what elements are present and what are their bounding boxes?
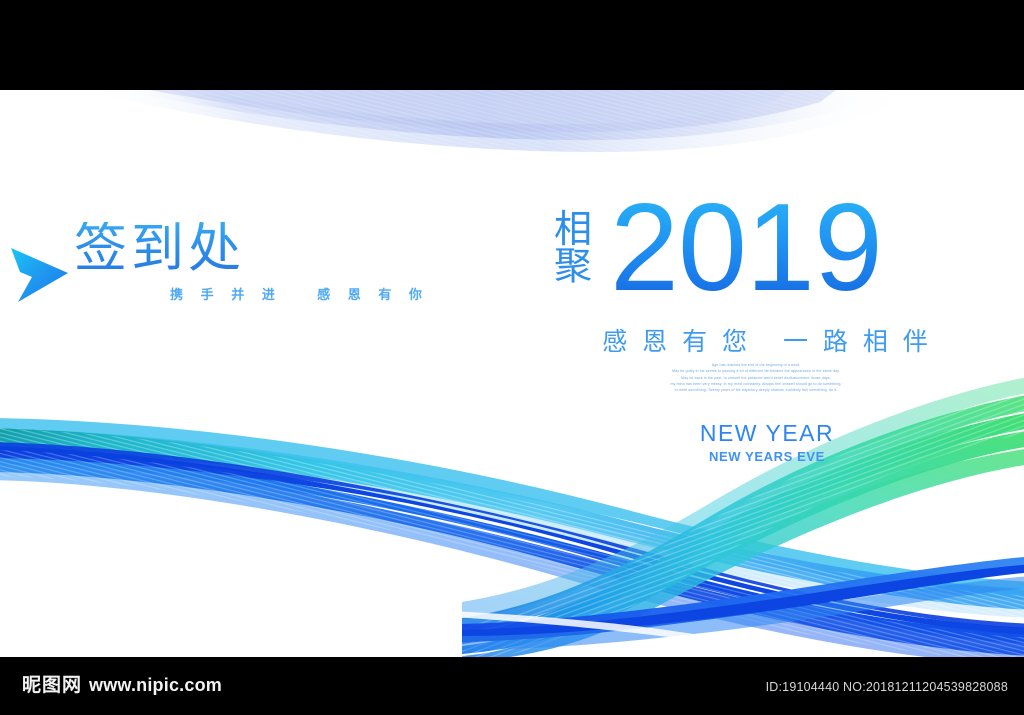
letterbox-top — [0, 0, 1024, 90]
blurb-line: or write something. Twenty years of life… — [626, 387, 886, 393]
arrow-right-icon — [8, 246, 70, 304]
poster-canvas: 签到处 携 手 并 进 感 恩 有 你 相 聚 2019 感 恩 有 您 一 路… — [0, 90, 1024, 657]
watermark-brand-cn: 昵图网 — [22, 676, 82, 695]
vertical-word-xiangju: 相 聚 — [554, 212, 592, 286]
watermark-url[interactable]: www.nipic.com — [89, 676, 222, 694]
vertical-char-1: 相 — [554, 212, 592, 249]
left-headline-block: 签到处 携 手 并 进 感 恩 有 你 — [0, 218, 420, 338]
new-year-subheading: NEW YEARS EVE — [602, 450, 932, 463]
vertical-char-2: 聚 — [554, 249, 592, 286]
page-title: 签到处 — [74, 222, 245, 275]
new-year-heading: NEW YEAR — [602, 422, 932, 445]
tagline: 感 恩 有 您 一 路 相 伴 — [602, 322, 932, 358]
poster-stage: 签到处 携 手 并 进 感 恩 有 你 相 聚 2019 感 恩 有 您 一 路… — [0, 0, 1024, 715]
year-row: 相 聚 2019 — [548, 200, 968, 318]
year-number: 2019 — [610, 186, 882, 310]
subtitle-part-1: 携 手 并 进 — [170, 287, 282, 302]
watermark: 昵图网 www.nipic.com — [22, 676, 222, 695]
asset-id-code: ID:19104440 NO:20181211204539828088 — [766, 680, 1008, 694]
right-headline-block: 相 聚 2019 感 恩 有 您 一 路 相 伴 Age has reached… — [548, 200, 968, 318]
subtitle-part-2: 感 恩 有 你 — [317, 287, 429, 302]
tagline-part-2: 一 路 相 伴 — [783, 328, 932, 356]
tagline-part-1: 感 恩 有 您 — [602, 328, 751, 356]
top-wave-group — [78, 90, 930, 152]
blurb-paragraph: Age has reached the end of the beginning… — [626, 362, 886, 393]
page-subtitle: 携 手 并 进 感 恩 有 你 — [170, 284, 429, 303]
